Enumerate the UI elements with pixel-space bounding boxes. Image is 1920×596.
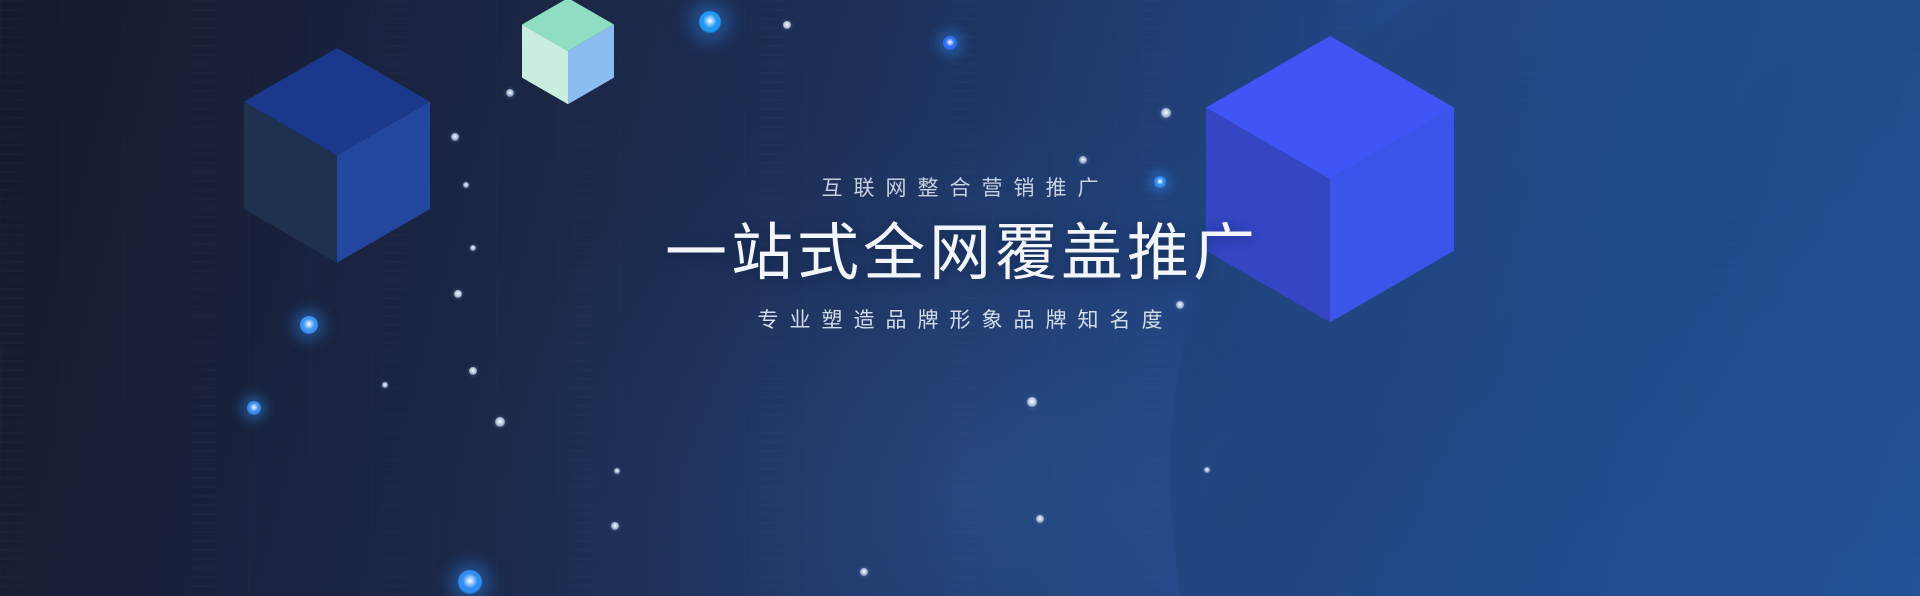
dot-small-5 bbox=[451, 133, 459, 141]
hero-tagline: 互联网整合营销推广 bbox=[0, 178, 1920, 199]
dot-small-3 bbox=[1079, 156, 1087, 164]
dot-small-11 bbox=[1027, 397, 1037, 407]
dot-glow-cyan-5 bbox=[247, 401, 261, 415]
dot-small-15 bbox=[611, 522, 619, 530]
dot-small-12 bbox=[382, 382, 388, 388]
dot-small-14 bbox=[614, 468, 620, 474]
hero-headline: 一站式全网覆盖推广 bbox=[0, 219, 1920, 288]
dot-glow-cyan-2 bbox=[943, 36, 957, 50]
dot-small-4 bbox=[506, 89, 514, 97]
hero-subline: 专业塑造品牌形象品牌知名度 bbox=[0, 310, 1920, 331]
dot-small-2 bbox=[1161, 108, 1171, 118]
dot-glow-cyan-6 bbox=[458, 570, 482, 594]
dot-small-16 bbox=[1036, 515, 1044, 523]
dot-small-1 bbox=[783, 21, 791, 29]
hero-banner: 互联网整合营销推广 一站式全网覆盖推广 专业塑造品牌形象品牌知名度 bbox=[0, 0, 1920, 596]
dot-small-9 bbox=[469, 367, 477, 375]
dot-small-17 bbox=[860, 568, 868, 576]
cube-mint-top bbox=[522, 0, 614, 104]
dot-small-13 bbox=[495, 417, 505, 427]
hero-copy: 互联网整合营销推广 一站式全网覆盖推广 专业塑造品牌形象品牌知名度 bbox=[0, 178, 1920, 331]
dot-small-18 bbox=[1204, 467, 1210, 473]
dot-glow-cyan-1 bbox=[699, 11, 721, 33]
